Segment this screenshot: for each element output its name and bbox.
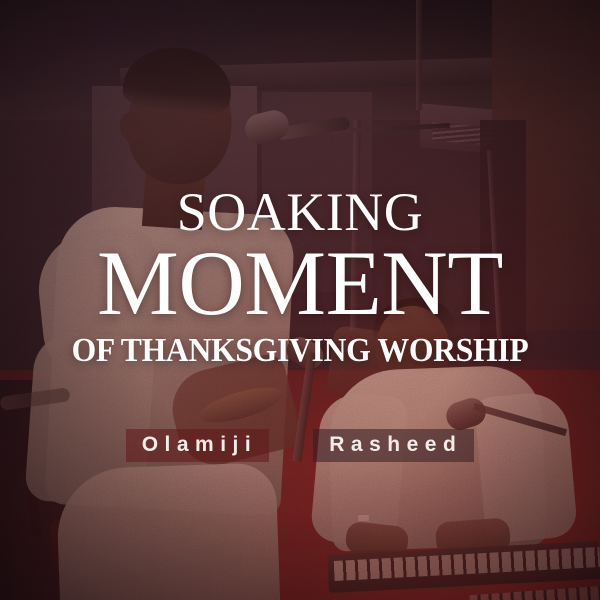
title-line-soaking: SOAKING	[0, 186, 600, 239]
title-line-moment: MOMENT	[0, 241, 600, 326]
album-cover-artwork: SOAKING MOMENT OF THANKSGIVING WORSHIP O…	[0, 0, 600, 600]
credit-name-second: Rasheed	[313, 429, 474, 462]
credit-name-first: Olamiji	[126, 429, 270, 462]
title-line-subtitle: OF THANKSGIVING WORSHIP	[21, 334, 579, 368]
title-block: SOAKING MOMENT OF THANKSGIVING WORSHIP	[0, 186, 600, 368]
credits-row: Olamiji Rasheed	[0, 429, 600, 462]
